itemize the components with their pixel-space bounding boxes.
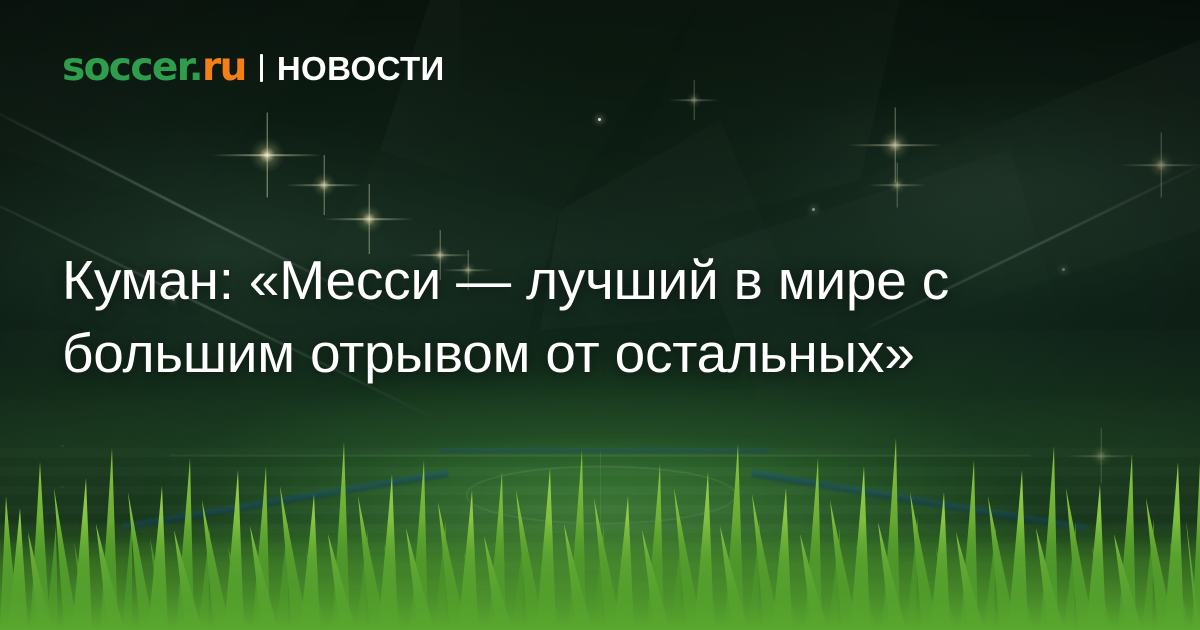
card-content: soccer.ru НОВОСТИ Куман: «Месси — лучший…	[0, 0, 1200, 630]
site-logo[interactable]: soccer.ru	[62, 48, 246, 87]
section-label[interactable]: НОВОСТИ	[277, 52, 445, 85]
logo-dot: .	[189, 45, 202, 90]
logo-soccer-text: soccer	[62, 45, 189, 90]
brand-separator-bar	[260, 54, 263, 82]
page-title: Куман: «Месси — лучший в мире с большим …	[62, 244, 1072, 390]
brand-bar[interactable]: soccer.ru НОВОСТИ	[62, 48, 445, 87]
logo-ru-text: ru	[202, 45, 246, 90]
news-share-card: soccer.ru НОВОСТИ Куман: «Месси — лучший…	[0, 0, 1200, 630]
